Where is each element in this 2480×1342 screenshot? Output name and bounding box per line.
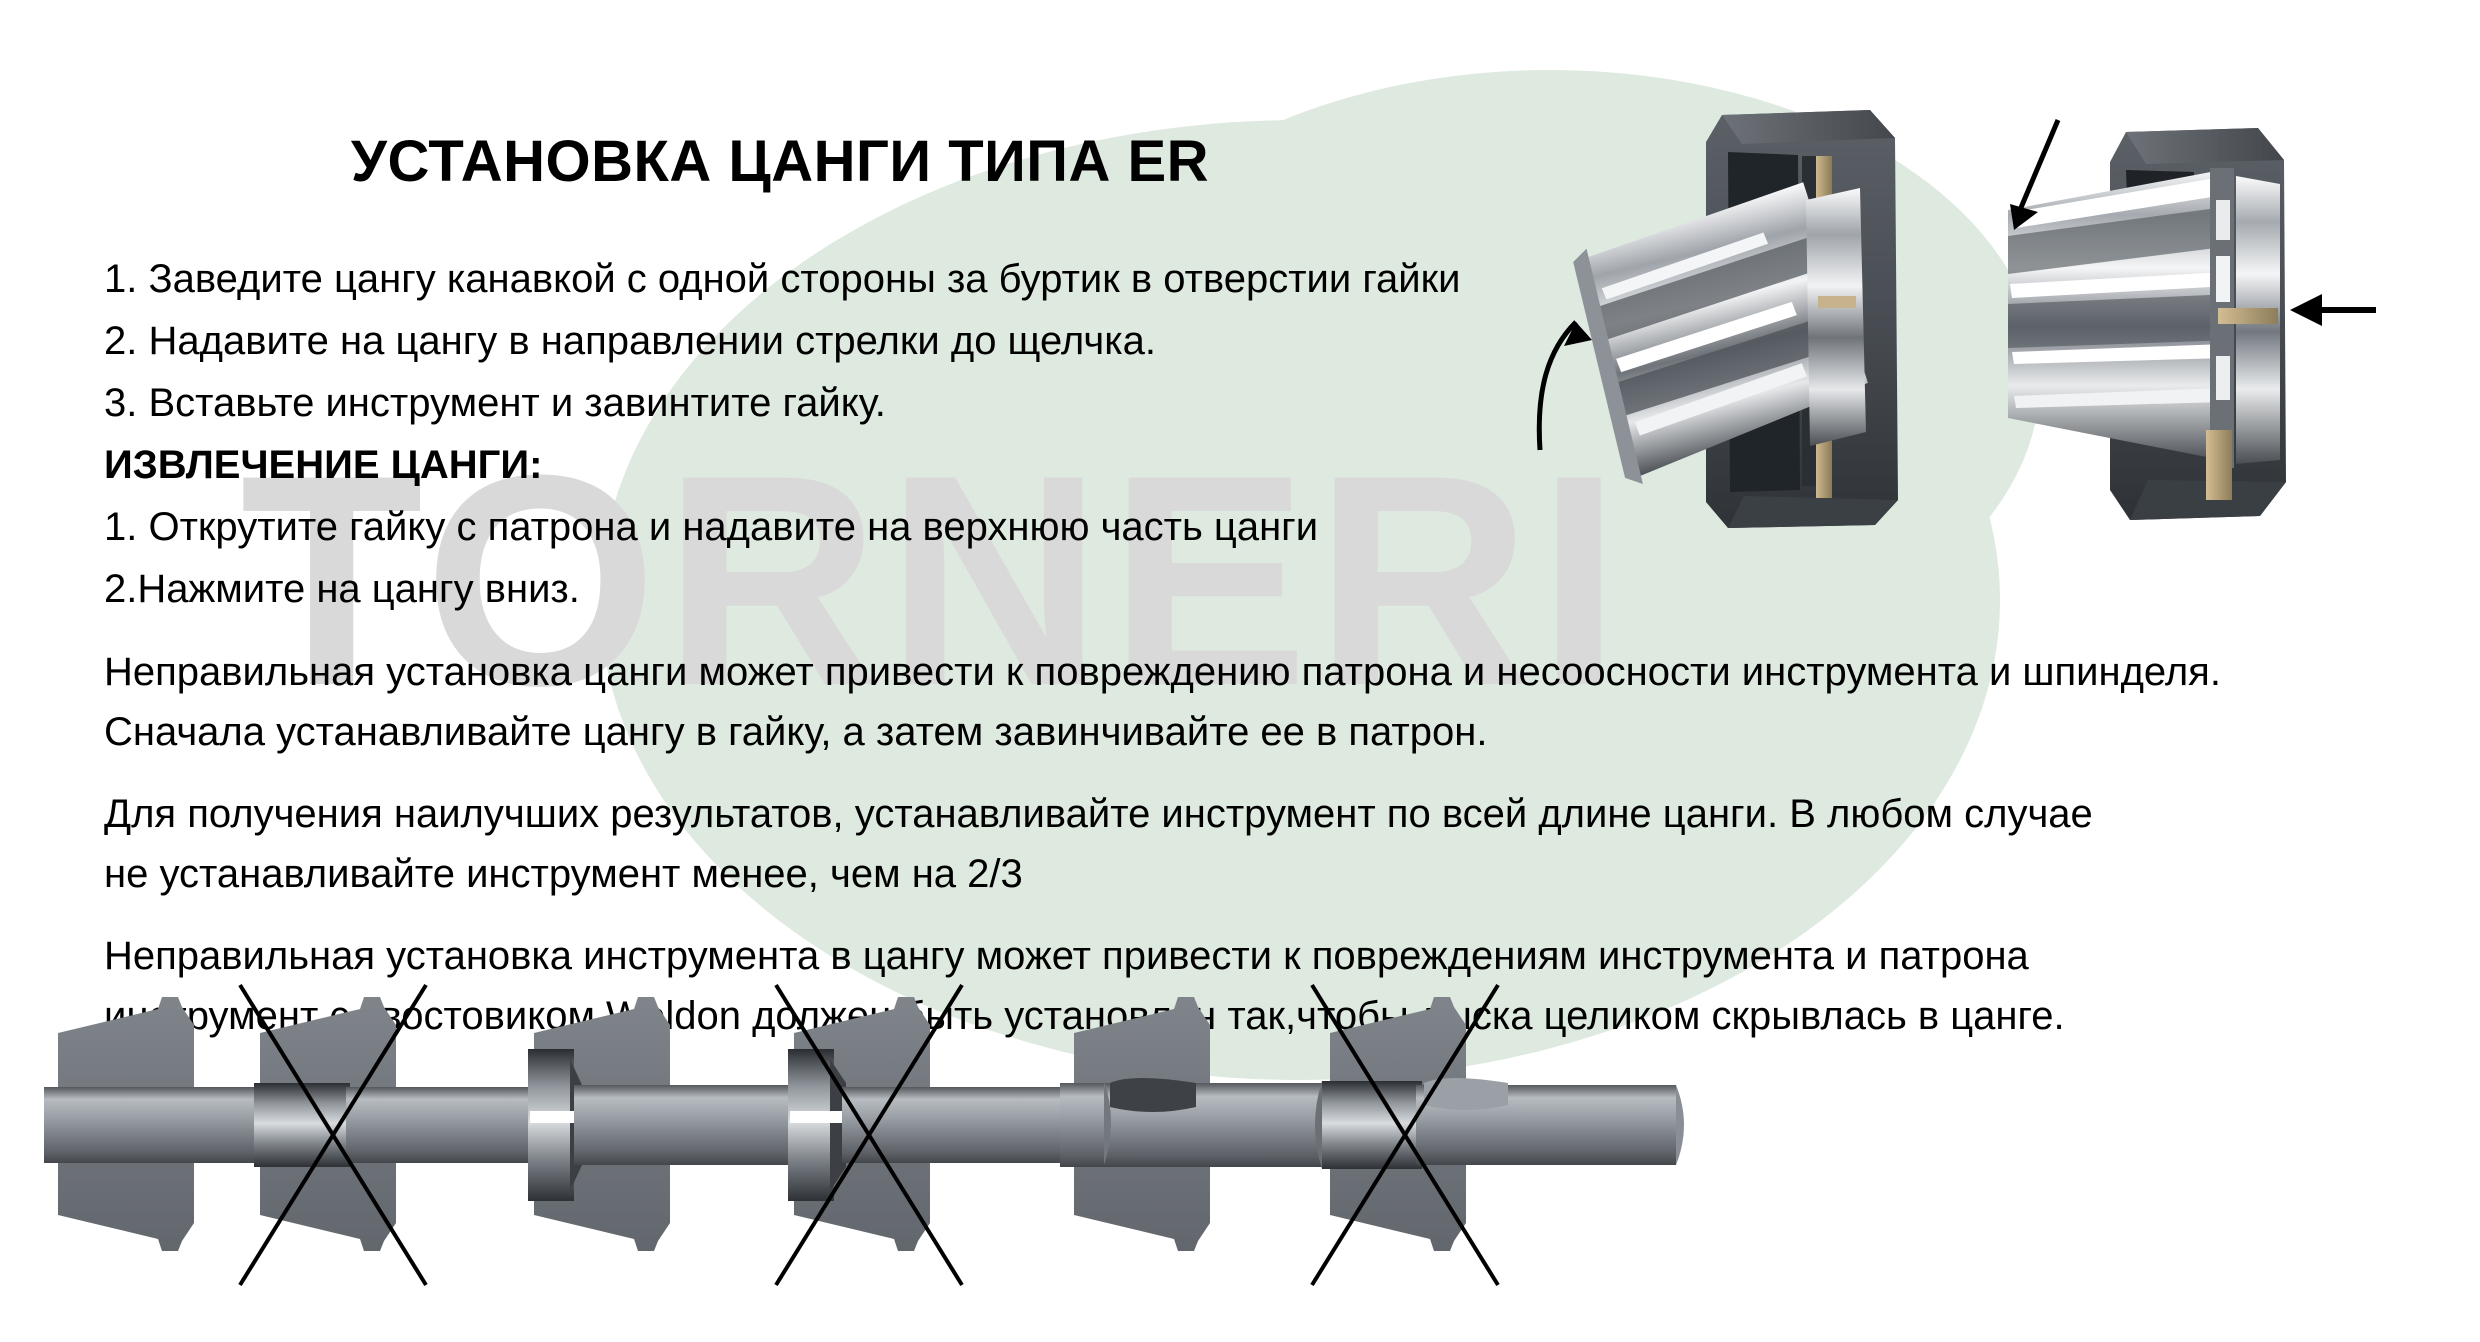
page-title: УСТАНОВКА ЦАНГИ ТИПА ER (0, 128, 1560, 195)
paragraph-2-line-1: Для получения наилучших результатов, уст… (104, 784, 2424, 844)
nut-top-chamfer (1722, 110, 1895, 144)
nut-bottom-chamfer (1728, 496, 1898, 528)
example-weldon-flat-exposed-wrong (1316, 975, 1716, 1342)
empty-bore (254, 1083, 350, 1167)
collet-bore (788, 1049, 834, 1201)
bore-front-cap (1315, 1081, 1322, 1169)
shank-left-stub (974, 1087, 1064, 1163)
collet-bore (528, 1049, 574, 1201)
paragraph-2-line-2: не устанавливайте инструмент менее, чем … (104, 844, 2424, 904)
paragraph-1: Неправильная установка цанги может приве… (104, 642, 2424, 762)
straight-arrow-left-icon (2290, 294, 2376, 326)
shank-end-cap (1676, 1085, 1684, 1165)
bore-highlight (790, 1111, 846, 1123)
collet-flange (2206, 168, 2280, 500)
curved-arrow-up-icon (1539, 322, 1592, 450)
collet-body (2008, 168, 2232, 462)
collet-flange (1806, 188, 1866, 446)
bore-highlight (530, 1111, 580, 1123)
illustration-collet-seated-in-nut (1980, 60, 2480, 570)
weldon-flat (1110, 1078, 1196, 1112)
retaining-ring (2218, 308, 2278, 324)
illustration-collet-tilted-into-nut (1530, 60, 2030, 560)
tool-insertion-examples (0, 975, 2480, 1342)
nut-top-chamfer (2126, 128, 2284, 164)
paragraph-2: Для получения наилучших результатов, уст… (104, 784, 2424, 904)
paragraph-1-line-2: Сначала устанавливайте цангу в гайку, а … (104, 702, 2424, 762)
empty-bore (1322, 1081, 1422, 1169)
paragraph-1-line-1: Неправильная установка цанги может приве… (104, 642, 2424, 702)
retaining-ring-lower (2206, 430, 2232, 500)
instruction-sheet: TORNERI УСТАНОВКА ЦАНГИ ТИПА ER 1. Завед… (0, 0, 2480, 1342)
